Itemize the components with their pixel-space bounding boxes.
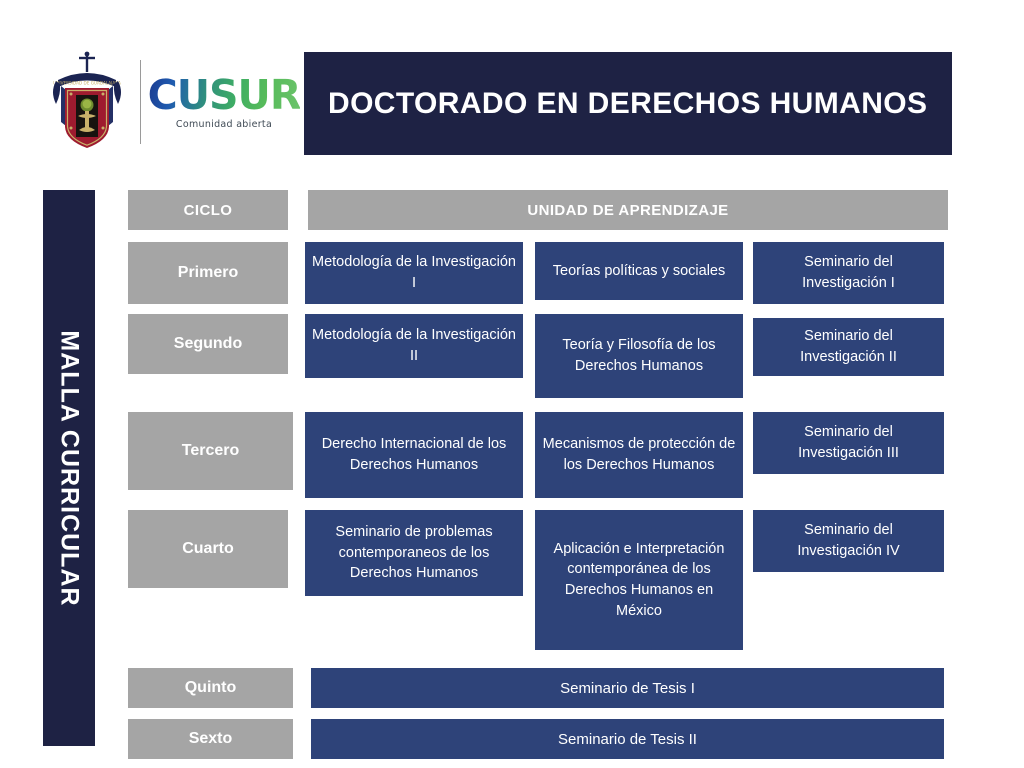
table-row: Primero Metodología de la Investigación …	[128, 242, 948, 304]
table-row: Segundo Metodología de la Investigación …	[128, 314, 948, 394]
course-cell[interactable]: Metodología de la Investigación I	[305, 242, 523, 304]
cycle-label-cuarto: Cuarto	[128, 510, 288, 588]
table-row: Tercero Derecho Internacional de los Der…	[128, 412, 948, 507]
table-header-row: CICLO UNIDAD DE APRENDIZAJE	[128, 190, 948, 230]
logo-divider	[140, 60, 141, 144]
column-header-ciclo: CICLO	[128, 190, 288, 230]
cusur-logo: CUSUR Comunidad abierta	[157, 75, 291, 130]
course-cell[interactable]: Metodología de la Investigación II	[305, 314, 523, 378]
table-row: Cuarto Seminario de problemas contempora…	[128, 510, 948, 660]
side-banner: MALLA CURRICULAR	[43, 190, 95, 746]
header-logo-group: UNIVERSIDAD DE GUADALAJARA	[48, 46, 300, 158]
udeg-shield-icon: UNIVERSIDAD DE GUADALAJARA	[48, 50, 126, 154]
course-cell[interactable]: Seminario de problemas contemporaneos de…	[305, 510, 523, 596]
column-header-unidad-aprendizaje: UNIDAD DE APRENDIZAJE	[308, 190, 948, 230]
course-cell[interactable]: Seminario del Investigación I	[753, 242, 944, 304]
table-row: Sexto Seminario de Tesis II	[128, 719, 948, 759]
svg-text:UNIVERSIDAD DE GUADALAJARA: UNIVERSIDAD DE GUADALAJARA	[53, 81, 121, 86]
course-cell[interactable]: Seminario de Tesis I	[311, 668, 944, 708]
course-cell[interactable]: Seminario de Tesis II	[311, 719, 944, 759]
curriculum-grid: CICLO UNIDAD DE APRENDIZAJE Primero Meto…	[128, 190, 948, 756]
course-cell[interactable]: Aplicación e Interpretación contemporáne…	[535, 510, 743, 650]
course-cell[interactable]: Seminario del Investigación III	[753, 412, 944, 474]
course-cell[interactable]: Teorías políticas y sociales	[535, 242, 743, 300]
course-cell[interactable]: Seminario del Investigación II	[753, 318, 944, 376]
cycle-label-primero: Primero	[128, 242, 288, 304]
cycle-label-quinto: Quinto	[128, 668, 293, 708]
course-cell[interactable]: Teoría y Filosofía de los Derechos Human…	[535, 314, 743, 398]
side-banner-label: MALLA CURRICULAR	[55, 330, 84, 606]
slide-canvas: UNIVERSIDAD DE GUADALAJARA	[0, 0, 1024, 768]
course-cell[interactable]: Derecho Internacional de los Derechos Hu…	[305, 412, 523, 498]
page-title: DOCTORADO EN DERECHOS HUMANOS	[304, 87, 927, 121]
cycle-label-tercero: Tercero	[128, 412, 293, 490]
course-cell[interactable]: Seminario del Investigación IV	[753, 510, 944, 572]
cusur-wordmark: CUSUR	[148, 75, 301, 116]
cusur-tagline: Comunidad abierta	[176, 119, 272, 130]
table-row: Quinto Seminario de Tesis I	[128, 668, 948, 708]
cycle-label-sexto: Sexto	[128, 719, 293, 759]
cycle-label-segundo: Segundo	[128, 314, 288, 374]
course-cell[interactable]: Mecanismos de protección de los Derechos…	[535, 412, 743, 498]
title-bar: DOCTORADO EN DERECHOS HUMANOS	[304, 52, 952, 155]
